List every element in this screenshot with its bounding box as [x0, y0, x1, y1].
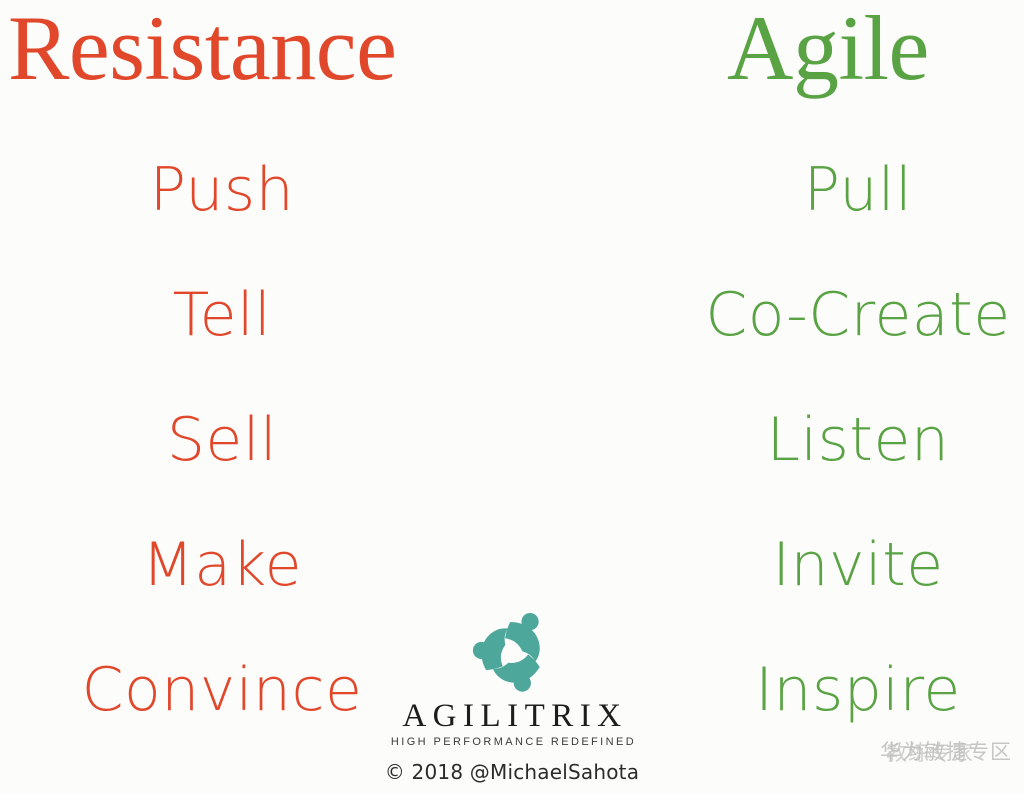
resistance-word: Push [0, 150, 444, 230]
agilitrix-tagline: HIGH PERFORMANCE REDEFINED [388, 735, 636, 749]
comparison-row: Make Invite [0, 525, 1024, 605]
watermark-overlay-text: 教练专家 [886, 737, 974, 767]
brand-footer: AGILITRIX HIGH PERFORMANCE REDEFINED © 2… [0, 604, 1024, 794]
agile-word: Invite [636, 525, 1024, 605]
comparison-row: Sell Listen [0, 400, 1024, 480]
resistance-word: Make [0, 525, 444, 605]
resistance-word: Sell [0, 400, 444, 480]
agilitrix-triskelion-icon [469, 610, 555, 696]
heading-agile: Agile [727, 0, 929, 102]
agile-word: Pull [636, 150, 1024, 230]
copyright-line: © 2018 @MichaelSahota [385, 760, 639, 784]
agile-word: Listen [636, 400, 1024, 480]
agilitrix-wordmark: AGILITRIX [396, 698, 627, 734]
resistance-word: Tell [0, 275, 444, 355]
comparison-row: Tell Co-Create [0, 275, 1024, 355]
watermark: 华为敏捷专区 教练专家 [880, 736, 1012, 766]
comparison-row: Push Pull [0, 150, 1024, 230]
heading-resistance: Resistance [8, 0, 396, 102]
slide-canvas: Resistance Agile Push Pull Tell Co-Creat… [0, 0, 1024, 794]
agile-word: Co-Create [636, 275, 1024, 355]
heading-row: Resistance Agile [0, 0, 1024, 110]
